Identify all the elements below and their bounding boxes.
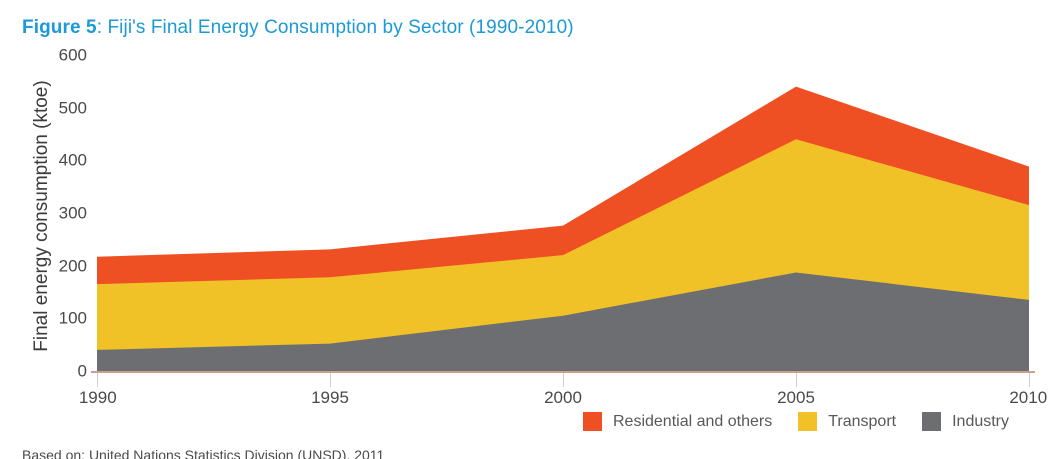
figure-container: Figure 5: Fiji's Final Energy Consumptio… — [0, 0, 1050, 459]
x-tick-label-1995: 1995 — [311, 388, 349, 408]
legend-label: Transport — [828, 413, 896, 431]
y-tick-label-300: 300 — [45, 205, 87, 222]
source-note: Based on: United Nations Statistics Divi… — [22, 447, 384, 459]
page-title: Figure 5: Fiji's Final Energy Consumptio… — [22, 17, 574, 39]
figure-title-text: : Fiji's Final Energy Consumption by Sec… — [97, 17, 574, 38]
y-tick-label-600: 600 — [45, 47, 87, 64]
x-tick-label-2010: 2010 — [1009, 388, 1047, 408]
legend-swatch-icon — [583, 412, 602, 431]
legend-label: Residential and others — [613, 413, 772, 431]
legend-label: Industry — [952, 413, 1009, 431]
plot-area — [97, 55, 1029, 371]
x-axis-tick-labels: 19901995200020052010 — [0, 373, 1050, 413]
figure-number: Figure 5 — [22, 17, 97, 38]
x-tick-mark-2005 — [796, 373, 797, 387]
x-tick-mark-1990 — [97, 373, 98, 387]
x-tick-mark-2010 — [1029, 373, 1030, 387]
legend-swatch-icon — [798, 412, 817, 431]
legend-item[interactable]: Industry — [922, 412, 1009, 431]
x-tick-mark-2000 — [563, 373, 564, 387]
y-axis-tick-labels: 6005004003002001000 — [43, 55, 87, 390]
stacked-area-svg — [97, 55, 1029, 371]
y-tick-label-200: 200 — [45, 257, 87, 274]
x-tick-label-2005: 2005 — [777, 388, 815, 408]
y-tick-label-500: 500 — [45, 99, 87, 116]
x-tick-label-2000: 2000 — [544, 388, 582, 408]
legend-swatch-icon — [922, 412, 941, 431]
x-tick-mark-1995 — [330, 373, 331, 387]
legend-item[interactable]: Residential and others — [583, 412, 772, 431]
y-tick-label-400: 400 — [45, 152, 87, 169]
legend: Residential and othersTransportIndustry — [583, 412, 1035, 431]
x-tick-label-1990: 1990 — [79, 388, 117, 408]
y-tick-label-100: 100 — [45, 310, 87, 327]
chart: Final energy consumption (ktoe) 60050040… — [0, 55, 1050, 390]
legend-item[interactable]: Transport — [798, 412, 896, 431]
